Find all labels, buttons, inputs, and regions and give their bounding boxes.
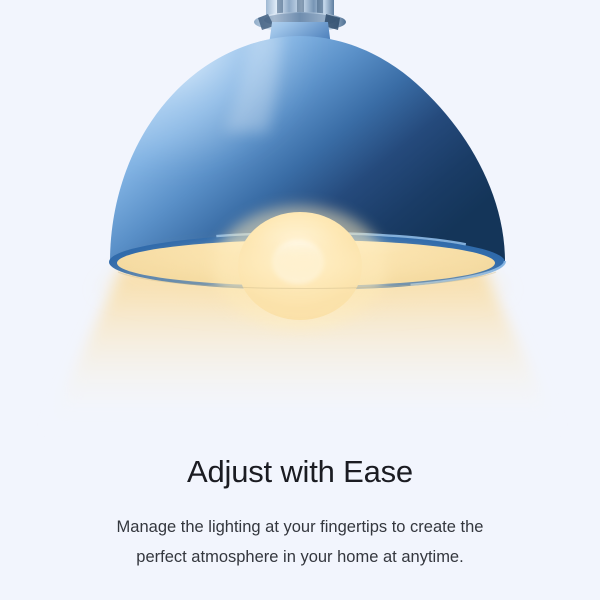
rim-glow-halo	[93, 242, 513, 342]
pendant-lamp-graphic	[0, 0, 600, 440]
description-line-1: Manage the lighting at your fingertips t…	[65, 512, 535, 542]
caption-block: Adjust with Ease Manage the lighting at …	[0, 440, 600, 572]
lamp-illustration	[0, 0, 600, 440]
page-title: Adjust with Ease	[0, 440, 600, 491]
page-description: Manage the lighting at your fingertips t…	[65, 491, 535, 572]
promo-card: Adjust with Ease Manage the lighting at …	[0, 0, 600, 600]
description-line-2: perfect atmosphere in your home at anyti…	[65, 542, 535, 572]
